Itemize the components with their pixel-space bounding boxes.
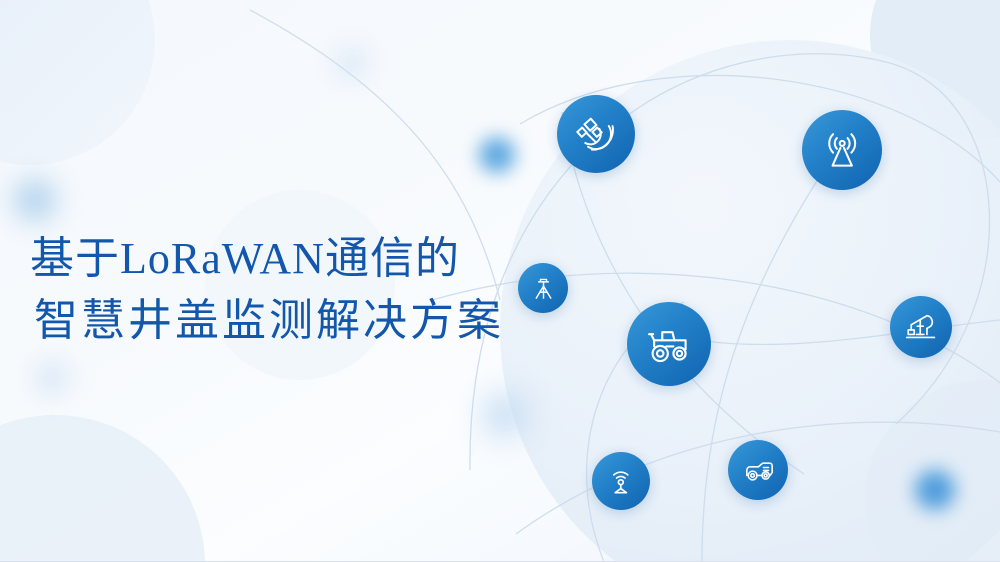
tractor-icon [645, 320, 694, 369]
oil-pumpjack-icon [903, 309, 939, 345]
decor-sphere-bottom-left [0, 415, 205, 561]
decor-blur-dot-bottom-left [37, 363, 67, 393]
decor-blur-dot-top-mid [339, 50, 365, 76]
decor-sphere-top-right [870, 0, 1000, 140]
slide-title: 基于LoRaWAN通信的 智慧井盖监测解决方案 [30, 228, 504, 353]
node-antenna[interactable] [802, 110, 882, 190]
decor-blur-dot-mid-upper [479, 137, 515, 173]
node-tractor[interactable] [627, 302, 711, 386]
decor-sphere-top-left [0, 0, 155, 165]
orbit-arc-1 [470, 54, 990, 470]
decor-blur-dot-right-lower [915, 470, 955, 510]
node-pumpjack[interactable] [890, 296, 952, 358]
node-sensor[interactable] [592, 452, 650, 510]
node-tripod[interactable] [518, 263, 568, 313]
decor-blur-dot-left [13, 178, 57, 222]
node-mower[interactable] [728, 440, 788, 500]
decor-blur-dot-mid-lower [483, 393, 527, 437]
wireless-sensor-icon [604, 464, 638, 498]
radio-tower-icon [819, 127, 865, 173]
title-line-primary: 基于LoRaWAN通信的 [30, 228, 504, 290]
slide-canvas: 基于LoRaWAN通信的 智慧井盖监测解决方案 [0, 0, 1000, 562]
robot-mower-icon [741, 453, 776, 488]
decor-sphere-right-low [865, 380, 1000, 561]
orbit-arc-5 [702, 142, 842, 561]
title-line-secondary: 智慧井盖监测解决方案 [30, 290, 504, 352]
survey-tripod-icon [529, 274, 558, 303]
satellite-signal-icon [573, 111, 618, 156]
node-satellite[interactable] [557, 95, 635, 173]
